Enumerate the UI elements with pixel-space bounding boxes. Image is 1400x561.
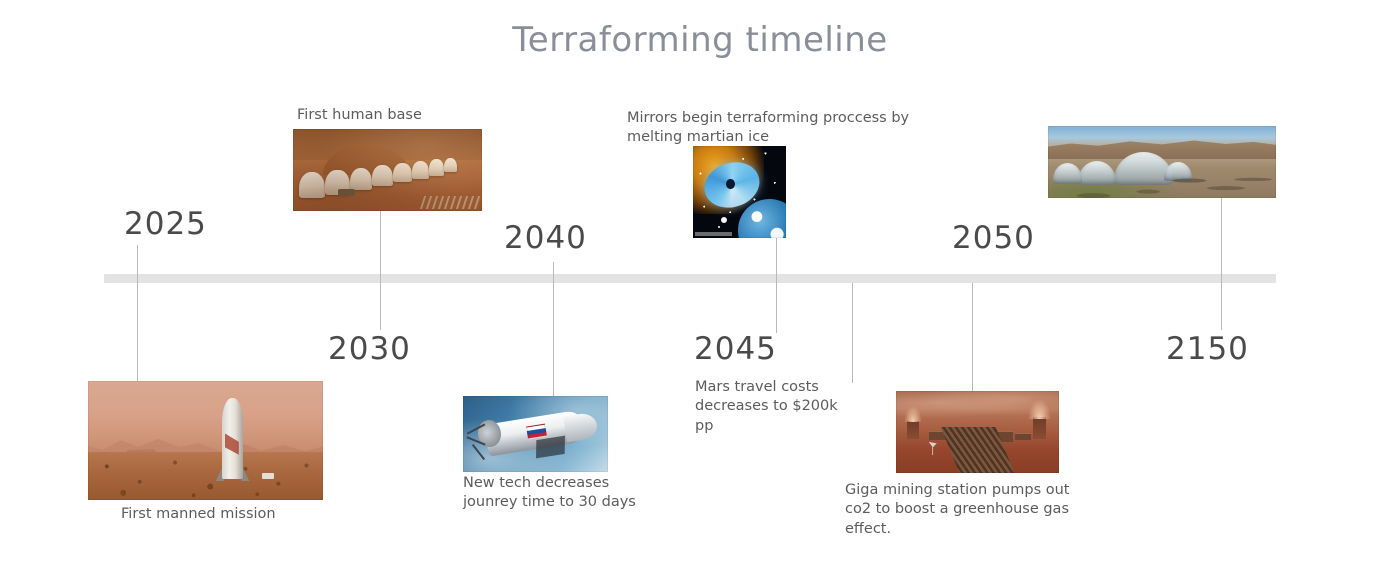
connector-tick-2045-lower [852,283,853,383]
caption-first-human-base: First human base [297,106,422,125]
factory-building-4 [1015,433,1031,441]
mirror-hub [726,179,734,189]
year-label-2030: 2030 [328,331,411,367]
rocky-foreground [1048,169,1276,198]
smoke-plume-right [1028,399,1051,419]
image-credit-watermark [695,232,732,237]
year-label-2045: 2045 [694,331,777,367]
communications-antenna [929,442,937,455]
spacecraft-over-earth-photo [463,396,608,472]
caption-new-tech-journey: New tech decreases jounrey time to 30 da… [463,474,636,513]
connector-tick-2025 [137,245,138,381]
giga-mining-station-photo [896,391,1059,473]
orbital-mirror-in-space-photo [693,146,786,238]
connector-tick-2030 [380,210,381,330]
mars-dust-haze [293,129,482,211]
terraformed-biodomes-photo [1048,126,1276,198]
timeline-axis-bar [104,274,1276,283]
year-label-2025: 2025 [124,206,207,242]
smoke-plume-left [904,406,922,422]
year-label-2040: 2040 [504,220,587,256]
caption-first-manned-mission: First manned mission [121,505,276,524]
page-title: Terraforming timeline [0,20,1400,60]
connector-tick-2050 [972,283,973,391]
year-label-2050: 2050 [952,220,1035,256]
caption-giga-mining-station: Giga mining station pumps out co2 to boo… [845,481,1069,539]
mars-rocket-landing-photo [88,381,323,500]
terraformed-ridge [1048,138,1276,160]
caption-mars-travel-costs: Mars travel costs decreases to $200k pp [695,378,838,436]
surface-rover-vehicle [262,473,274,479]
timeline-infographic: Terraforming timeline 2025 2030 2040 204… [0,0,1400,561]
connector-tick-2040 [553,262,554,397]
connector-tick-2045 [776,238,777,333]
connector-tick-2150 [1221,198,1222,330]
mars-habitat-domes-photo [293,129,482,211]
mars-rock-texture [88,452,323,500]
year-label-2150: 2150 [1166,331,1249,367]
smokestack-right [1033,417,1046,438]
smokestack-left [907,421,918,439]
caption-mirrors-terraforming: Mirrors begin terraforming proccess by m… [627,109,909,148]
